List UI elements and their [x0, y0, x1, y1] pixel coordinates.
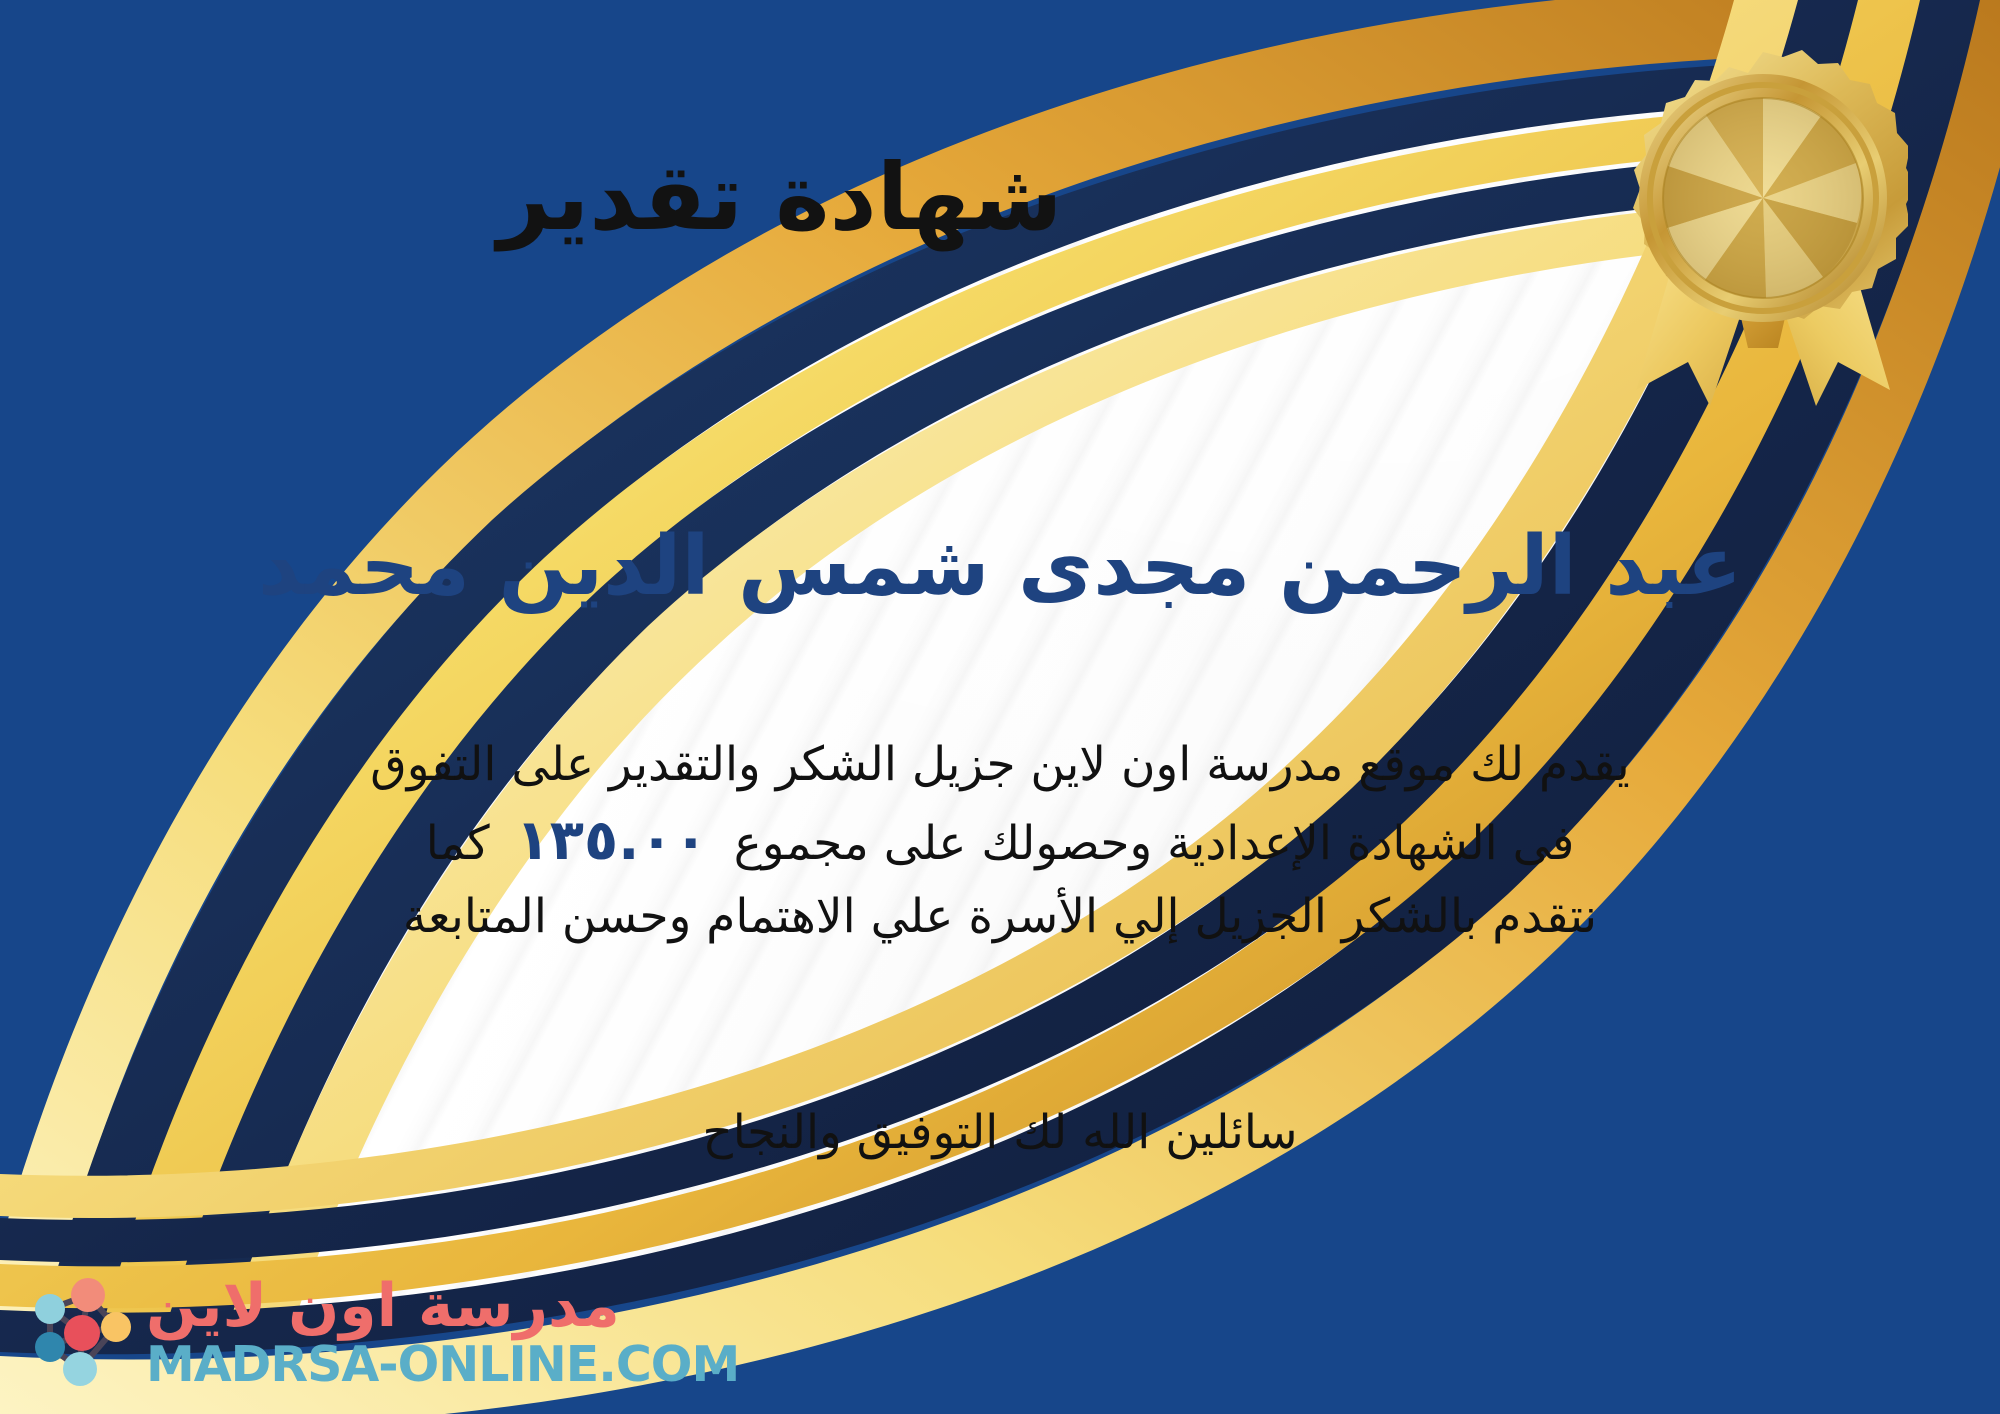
recipient-name: عبد الرحمن مجدى شمس الدين محمد — [0, 520, 2000, 614]
certificate-body: يقدم لك موقع مدرسة اون لاين جزيل الشكر و… — [60, 730, 1940, 952]
network-nodes-icon — [22, 1273, 140, 1391]
body-line-2-prefix: فى الشهادة الإعدادية وحصولك على مجموع — [734, 816, 1575, 871]
brand-arabic-name: مدرسة اون لاين — [146, 1276, 620, 1336]
body-line-2-suffix: كما — [426, 816, 490, 871]
body-line-2: فى الشهادة الإعدادية وحصولك على مجموع١٣٥… — [60, 800, 1940, 883]
brand-website-url: MADRSA-ONLINE.COM — [146, 1340, 739, 1389]
body-line-3: نتقدم بالشكر الجزيل إلي الأسرة علي الاهت… — [60, 882, 1940, 952]
certificate-title: شهادة تقدير — [0, 150, 1560, 247]
certificate-content: شهادة تقدير عبد الرحمن مجدى شمس الدين مح… — [0, 0, 2000, 1414]
certificate-canvas: شهادة تقدير عبد الرحمن مجدى شمس الدين مح… — [0, 0, 2000, 1414]
body-line-1: يقدم لك موقع مدرسة اون لاين جزيل الشكر و… — [60, 730, 1940, 800]
brand-wordmark: مدرسة اون لاين MADRSA-ONLINE.COM — [146, 1276, 739, 1389]
grade-total-value: ١٣٥.٠٠ — [490, 808, 734, 873]
closing-wish-line: سائلين الله لك التوفيق والنجاح — [60, 1105, 1940, 1160]
brand-logo[interactable]: مدرسة اون لاين MADRSA-ONLINE.COM — [22, 1258, 582, 1406]
